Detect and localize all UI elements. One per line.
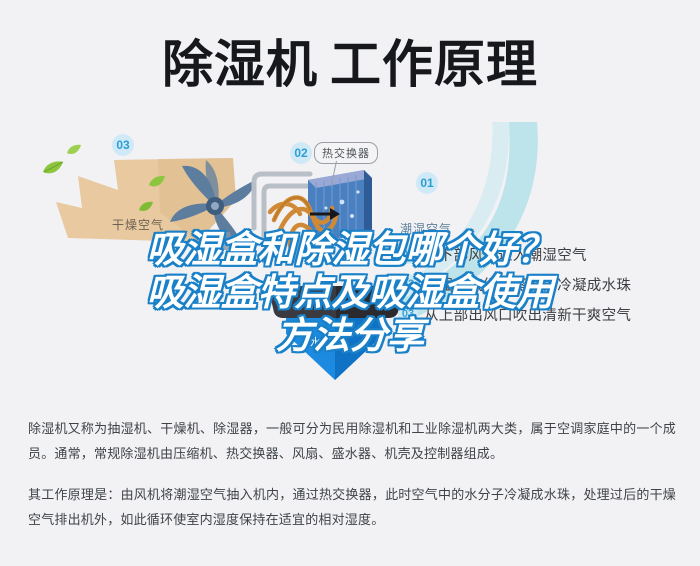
screenshot-root: 除湿机工作原理 干燥空气 [0,0,700,566]
leaf-icon [66,143,82,161]
diagram-badge-03: 03 [112,134,134,156]
heat-exchanger-callout: 热交换器 [314,142,378,164]
page-title: 除湿机工作原理 [0,34,700,96]
article-body: 除湿机又称为抽湿机、干燥机、除湿器，一般可分为民用除湿机和工业除湿机两大类，属于… [28,416,676,532]
leaf-icon [138,200,154,218]
body-paragraph-2: 其工作原理是：由风机将潮湿空气抽入机内，通过热交换器，此时空气中的水分子冷凝成水… [28,482,676,532]
overlay-headline-line2: 吸湿盒特点及吸湿盒使用 [0,271,700,314]
diagram-badge-02: 02 [290,142,312,164]
diagram-badge-01: 01 [416,172,438,194]
overlay-headline-line1: 吸湿盒和除湿包哪个好？ [0,228,700,271]
page-title-part1: 除湿机 [162,36,318,93]
page-title-part2: 工作原理 [330,36,538,93]
body-paragraph-1: 除湿机又称为抽湿机、干燥机、除湿器，一般可分为民用除湿机和工业除湿机两大类，属于… [28,416,676,466]
leaf-icon [42,160,64,181]
overlay-headline: 吸湿盒和除湿包哪个好？ 吸湿盒特点及吸湿盒使用 方法分享 [0,228,700,357]
overlay-headline-line3: 方法分享 [0,314,700,357]
